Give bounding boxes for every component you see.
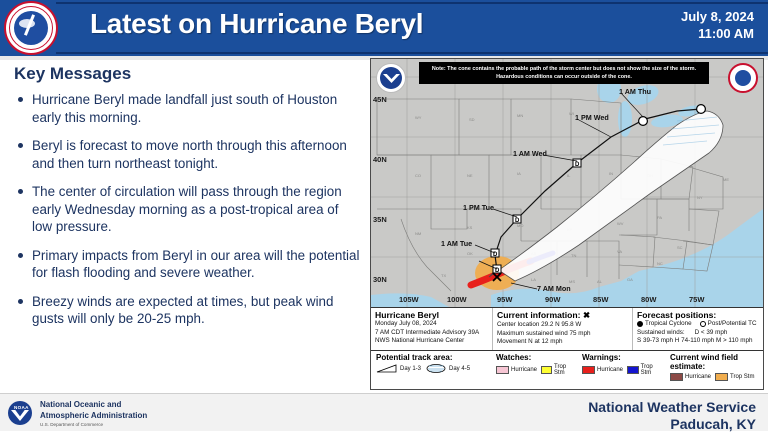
watches-title: Watches: [496, 353, 574, 362]
forecast-marker-legend: Tropical Cyclone Post/Potential TC [637, 320, 759, 329]
day-1-3-chip: Day 1-3 [376, 364, 421, 373]
wind-scale-shm: S 39-73 mph H 74-110 mph M > 110 mph [637, 337, 752, 346]
lon-label-85w: 85W [593, 295, 608, 304]
weather-briefing-page: Latest on Hurricane Beryl July 8, 2024 1… [0, 0, 768, 431]
nws-seal-icon [728, 63, 758, 93]
office-line-1: National Weather Service [588, 399, 756, 416]
wind-hurricane-label: Hurricane [685, 374, 711, 380]
svg-text:LA: LA [531, 277, 536, 282]
svg-text:ME: ME [723, 177, 729, 182]
cone-day45-icon [425, 364, 447, 373]
agency-line-2: Atmospheric Administration [40, 411, 147, 422]
watch-tropstm-chip: Trop Stm [541, 364, 574, 376]
svg-text:OK: OK [467, 251, 473, 256]
svg-text:NM: NM [415, 231, 421, 236]
svg-text:D: D [493, 252, 498, 258]
bullet-dot-icon [18, 299, 23, 304]
svg-text:WV: WV [617, 221, 624, 226]
warn-hurricane-swatch-icon [582, 366, 595, 374]
svg-text:TN: TN [571, 253, 576, 258]
current-position-marker-icon: ✖ [583, 310, 590, 320]
svg-text:SD: SD [469, 117, 475, 122]
agency-name: National Oceanic and Atmospheric Adminis… [40, 400, 147, 421]
warn-tropstm-swatch-icon [627, 366, 639, 374]
header-datetime: July 8, 2024 11:00 AM [681, 8, 754, 42]
forecast-positions-title: Forecast positions: [637, 310, 759, 320]
list-item: Breezy winds are expected at times, but … [14, 293, 362, 328]
map-legend-row: Potential track area: Day 1-3 [371, 350, 763, 389]
cone-disclaimer-note: Note: The cone contains the probable pat… [419, 62, 709, 84]
list-item: Beryl is forecast to move north through … [14, 137, 362, 172]
wind-hurricane-chip: Hurricane [670, 373, 711, 381]
svg-text:MN: MN [517, 113, 523, 118]
bullet-text: Hurricane Beryl made landfall just south… [32, 92, 337, 125]
storm-name: Hurricane Beryl [375, 310, 488, 320]
department-name: U.S. Department of Commerce [40, 422, 103, 427]
noaa-seal-icon [376, 63, 406, 93]
lon-label-95w: 95W [497, 295, 512, 304]
watch-hurricane-label: Hurricane [511, 367, 537, 373]
map-canvas: WY SD MN WI CO NE IA IL IN OH NM KS MO K… [371, 59, 763, 307]
svg-text:D: D [575, 162, 580, 168]
storm-source: NWS National Hurricane Center [375, 337, 488, 346]
watch-tropstm-swatch-icon [541, 366, 552, 374]
max-sustained-wind: Maximum sustained wind 75 mph [497, 330, 628, 339]
list-item: Hurricane Beryl made landfall just south… [14, 91, 362, 126]
list-item: The center of circulation will pass thro… [14, 183, 362, 236]
header-time: 11:00 AM [681, 25, 754, 42]
svg-text:WI: WI [569, 111, 574, 116]
wind-scale-row: S 39-73 mph H 74-110 mph M > 110 mph [637, 337, 759, 346]
bullet-text: Beryl is forecast to move north through … [32, 138, 347, 171]
cone-day13-icon [376, 364, 398, 373]
lon-label-75w: 75W [689, 295, 704, 304]
bullet-dot-icon [18, 253, 23, 258]
wind-hurricane-swatch-icon [670, 373, 683, 381]
svg-text:CO: CO [415, 173, 421, 178]
key-messages-section: Key Messages Hurricane Beryl made landfa… [14, 64, 362, 339]
svg-text:KS: KS [467, 225, 473, 230]
post-potential-tc-marker-icon [700, 321, 706, 327]
day-1-3-label: Day 1-3 [400, 366, 421, 372]
bullet-dot-icon [18, 143, 23, 148]
potential-track-title: Potential track area: [376, 353, 488, 362]
wind-field-legend: Current wind field estimate: Hurricane T… [665, 351, 763, 389]
current-information-label: Current information: [497, 310, 581, 320]
wind-scale-d: D < 39 mph [695, 329, 728, 338]
track-label-7am-mon: 7 AM Mon [537, 284, 571, 293]
lat-label-45n: 45N [373, 95, 387, 104]
bullet-text: Breezy winds are expected at times, but … [32, 294, 333, 327]
svg-text:VA: VA [617, 249, 622, 254]
storm-info-row: Hurricane Beryl Monday July 08, 2024 7 A… [371, 307, 763, 350]
list-item: Primary impacts from Beryl in our area w… [14, 247, 362, 282]
lon-label-105w: 105W [399, 295, 419, 304]
svg-text:PA: PA [657, 215, 662, 220]
wind-tropstm-chip: Trop Stm [715, 373, 754, 381]
lon-label-100w: 100W [447, 295, 467, 304]
watch-hurricane-chip: Hurricane [496, 366, 537, 374]
wind-tropstm-swatch-icon [715, 373, 728, 381]
key-messages-heading: Key Messages [14, 64, 362, 84]
bullet-dot-icon [18, 97, 23, 102]
lat-label-35n: 35N [373, 215, 387, 224]
hurricane-forecast-graphic: WY SD MN WI CO NE IA IL IN OH NM KS MO K… [370, 58, 764, 390]
lon-label-90w: 90W [545, 295, 560, 304]
svg-text:NE: NE [467, 173, 473, 178]
warn-tropstm-label: Trop Stm [641, 364, 662, 376]
track-label-1pm-wed: 1 PM Wed [575, 113, 609, 122]
tropical-cyclone-marker-icon [637, 321, 643, 327]
wind-tropstm-label: Trop Stm [730, 374, 754, 380]
svg-text:TX: TX [441, 273, 446, 278]
nws-seal-icon [4, 1, 58, 55]
weather-office: National Weather Service Paducah, KY [588, 399, 756, 432]
day-4-5-label: Day 4-5 [449, 366, 470, 372]
agency-line-1: National Oceanic and [40, 400, 147, 411]
watch-hurricane-swatch-icon [496, 366, 509, 374]
center-location: Center location 29.2 N 95.8 W [497, 321, 628, 330]
page-title: Latest on Hurricane Beryl [90, 8, 423, 40]
bullet-text: The center of circulation will pass thro… [32, 184, 342, 234]
track-label-1am-wed: 1 AM Wed [513, 149, 547, 158]
forecast-positions-block: Forecast positions: Tropical Cyclone Pos… [633, 308, 763, 350]
svg-text:GA: GA [627, 277, 633, 282]
office-line-2: Paducah, KY [588, 416, 756, 432]
watch-tropstm-label: Trop Stm [554, 364, 574, 376]
lat-label-30n: 30N [373, 275, 387, 284]
current-information-title: Current information: ✖ [497, 310, 628, 321]
lat-label-40n: 40N [373, 155, 387, 164]
warn-hurricane-label: Hurricane [597, 367, 623, 373]
day-4-5-chip: Day 4-5 [425, 364, 470, 373]
svg-text:D: D [515, 218, 520, 224]
warnings-legend: Warnings: Hurricane Trop Stm [577, 351, 665, 389]
map-graphic: WY SD MN WI CO NE IA IL IN OH NM KS MO K… [371, 59, 763, 307]
wind-field-title: Current wind field estimate: [670, 353, 760, 371]
sustained-winds-row: Sustained winds: D < 39 mph [637, 329, 759, 338]
page-header: Latest on Hurricane Beryl July 8, 2024 1… [0, 0, 768, 56]
storm-identity-block: Hurricane Beryl Monday July 08, 2024 7 A… [371, 308, 493, 350]
track-label-1am-thu: 1 AM Thu [619, 87, 651, 96]
storm-advisory: 7 AM CDT Intermediate Advisory 39A [375, 329, 488, 338]
bullet-text: Primary impacts from Beryl in our area w… [32, 248, 359, 281]
post-potential-tc-label: Post/Potential TC [708, 320, 757, 329]
page-footer: NOAA National Oceanic and Atmospheric Ad… [0, 393, 768, 431]
svg-text:IA: IA [517, 171, 521, 176]
warn-hurricane-chip: Hurricane [582, 366, 623, 374]
track-label-1pm-tue: 1 PM Tue [463, 203, 494, 212]
sustained-winds-label: Sustained winds: [637, 329, 685, 338]
potential-track-legend: Potential track area: Day 1-3 [371, 351, 491, 389]
storm-date: Monday July 08, 2024 [375, 320, 488, 329]
tropical-cyclone-label: Tropical Cyclone [645, 320, 692, 329]
svg-text:IN: IN [609, 171, 613, 176]
svg-text:AL: AL [597, 279, 603, 284]
noaa-seal-icon: NOAA [8, 401, 32, 425]
lon-label-80w: 80W [641, 295, 656, 304]
svg-text:WY: WY [415, 115, 422, 120]
warn-tropstm-chip: Trop Stm [627, 364, 662, 376]
bullet-dot-icon [18, 189, 23, 194]
svg-text:NC: NC [657, 261, 663, 266]
key-messages-list: Hurricane Beryl made landfall just south… [14, 91, 362, 328]
header-date: July 8, 2024 [681, 8, 754, 25]
warnings-title: Warnings: [582, 353, 662, 362]
track-label-1am-tue: 1 AM Tue [441, 239, 472, 248]
svg-text:D: D [495, 268, 500, 274]
storm-movement: Movement N at 12 mph [497, 338, 628, 347]
watches-legend: Watches: Hurricane Trop Stm [491, 351, 577, 389]
current-information-block: Current information: ✖ Center location 2… [493, 308, 633, 350]
svg-text:SC: SC [677, 245, 683, 250]
svg-text:NY: NY [697, 195, 703, 200]
